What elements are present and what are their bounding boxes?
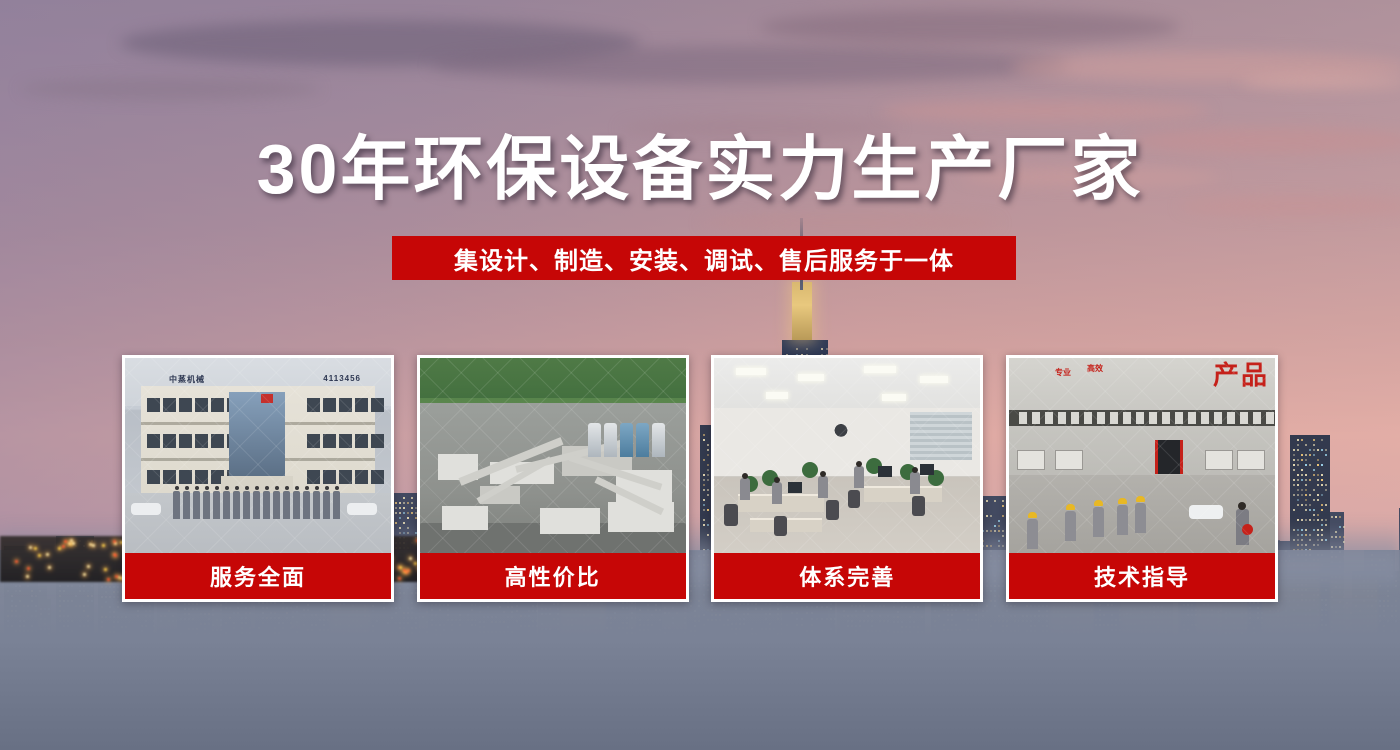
feature-card-caption: 技术指导 (1009, 553, 1275, 599)
company-office-building-with-staff-photo: 中蒸机械 4113456 (125, 358, 391, 553)
feature-card-list: 中蒸机械 4113456 服务全面 高性价比 (122, 355, 1278, 602)
photo-signage-text: 中蒸机械 (169, 374, 205, 385)
feature-card[interactable]: 产品 专业 高效 技术指导 (1006, 355, 1278, 602)
aerial-industrial-plant-photo (420, 358, 686, 553)
feature-card-caption: 高性价比 (420, 553, 686, 599)
office-interior-staff-photo (714, 358, 980, 553)
subtitle-banner: 集设计、制造、安装、调试、售后服务于一体 (392, 236, 1016, 280)
feature-card-caption: 服务全面 (125, 553, 391, 599)
feature-card-caption: 体系完善 (714, 553, 980, 599)
feature-card[interactable]: 体系完善 (711, 355, 983, 602)
photo-signage-text: 产品 (1213, 362, 1269, 388)
photo-phone-text: 4113456 (323, 374, 361, 383)
feature-card[interactable]: 高性价比 (417, 355, 689, 602)
photo-signage-small-1: 专业 (1055, 368, 1071, 377)
factory-workers-training-photo: 产品 专业 高效 (1009, 358, 1275, 553)
feature-card[interactable]: 中蒸机械 4113456 服务全面 (122, 355, 394, 602)
promo-banner: 30年环保设备实力生产厂家 集设计、制造、安装、调试、售后服务于一体 中蒸机械 … (0, 0, 1400, 750)
photo-signage-small-2: 高效 (1087, 364, 1103, 373)
page-title: 30年环保设备实力生产厂家 (0, 128, 1400, 210)
subtitle-text: 集设计、制造、安装、调试、售后服务于一体 (454, 241, 954, 276)
